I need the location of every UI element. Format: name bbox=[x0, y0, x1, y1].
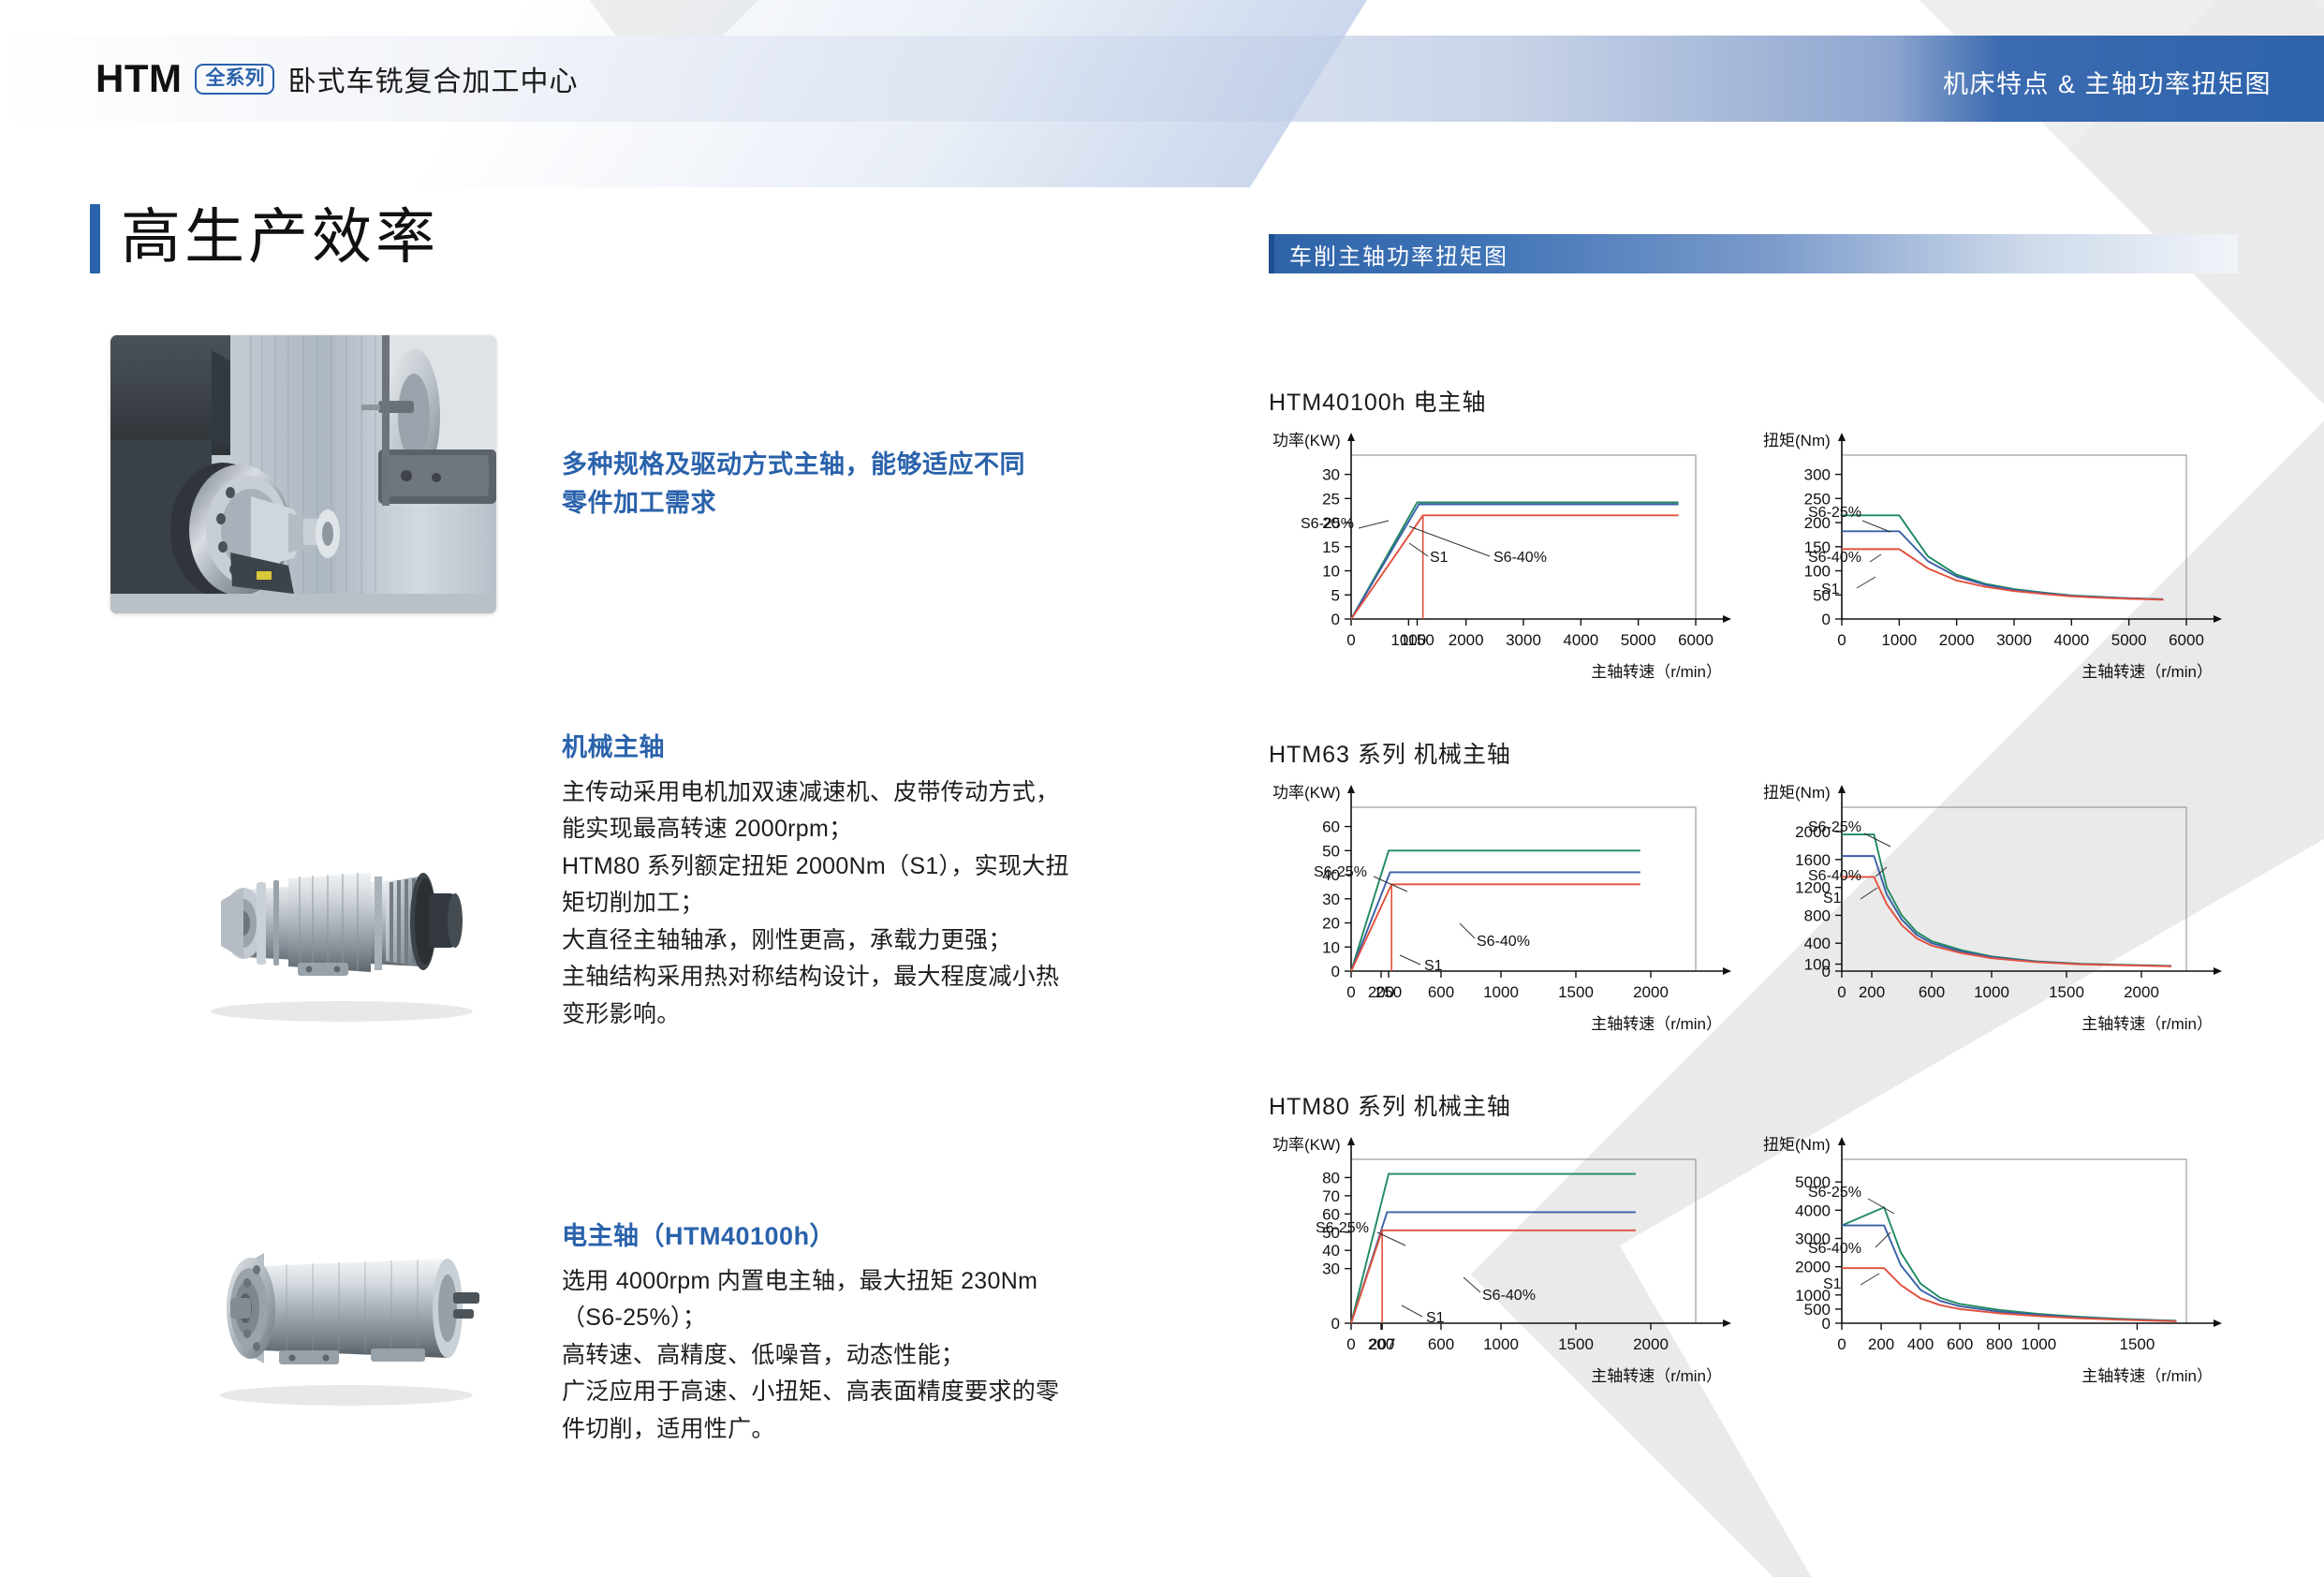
svg-text:4000: 4000 bbox=[2053, 631, 2089, 649]
body-line: 变形影响。 bbox=[562, 996, 1180, 1034]
charts-column: 车削主轴功率扭矩图 HTM40100h 电主轴 0510152025300100… bbox=[1269, 234, 2238, 1399]
svg-text:2000: 2000 bbox=[2124, 983, 2159, 1001]
brand-name: HTM bbox=[96, 56, 182, 101]
chart-group-title: HTM63 系列 机械主轴 bbox=[1269, 736, 2238, 770]
svg-text:1500: 1500 bbox=[2120, 1335, 2155, 1353]
svg-text:5000: 5000 bbox=[2111, 631, 2147, 649]
svg-text:S6-40%: S6-40% bbox=[1493, 550, 1547, 566]
feature-heading-mechanical: 机械主轴 bbox=[562, 729, 1180, 767]
svg-text:1000: 1000 bbox=[1974, 983, 2009, 1001]
machine-interior-photo bbox=[110, 335, 496, 613]
svg-text:S6-25%: S6-25% bbox=[1808, 1185, 1861, 1201]
body-line: 选用 4000rpm 内置电主轴，最大扭矩 230Nm bbox=[562, 1263, 1180, 1301]
svg-text:250: 250 bbox=[1375, 983, 1402, 1001]
svg-text:100: 100 bbox=[1804, 956, 1831, 974]
svg-text:S6-40%: S6-40% bbox=[1482, 1288, 1536, 1304]
svg-text:600: 600 bbox=[1919, 983, 1945, 1001]
svg-text:30: 30 bbox=[1322, 466, 1340, 484]
svg-text:3000: 3000 bbox=[1996, 631, 2032, 649]
body-line: 能实现最高转速 2000rpm； bbox=[562, 811, 1180, 848]
svg-text:1000: 1000 bbox=[1483, 1335, 1519, 1353]
svg-text:207: 207 bbox=[1369, 1335, 1395, 1353]
svg-text:10: 10 bbox=[1322, 938, 1340, 956]
svg-text:S6-25%: S6-25% bbox=[1314, 864, 1367, 880]
svg-text:0: 0 bbox=[1346, 1335, 1355, 1353]
header-section-title: 机床特点 & 主轴功率扭矩图 bbox=[1943, 64, 2272, 100]
title-accent-bar bbox=[90, 204, 100, 273]
feature-body-mechanical: 主传动采用电机加双速减速机、皮带传动方式， 能实现最高转速 2000rpm； H… bbox=[562, 774, 1180, 1034]
chart-group-title: HTM80 系列 机械主轴 bbox=[1269, 1088, 2238, 1122]
chart-htm40100h-power: 0510152025300100011502000300040005000600… bbox=[1269, 423, 1735, 695]
page-title-wrapper: 高生产效率 bbox=[90, 204, 439, 273]
body-line: 件切削，适用性广。 bbox=[562, 1411, 1180, 1449]
svg-text:S1: S1 bbox=[1426, 1310, 1445, 1326]
svg-text:300: 300 bbox=[1804, 466, 1831, 484]
svg-text:0: 0 bbox=[1331, 1315, 1340, 1333]
svg-text:60: 60 bbox=[1322, 818, 1340, 836]
svg-text:80: 80 bbox=[1322, 1169, 1340, 1186]
svg-text:30: 30 bbox=[1322, 891, 1340, 908]
svg-text:0: 0 bbox=[1822, 611, 1831, 628]
header-brand-title: HTM 全系列 卧式车铣复合加工中心 bbox=[96, 56, 578, 101]
svg-text:4000: 4000 bbox=[1795, 1201, 1831, 1219]
svg-text:扭矩(Nm): 扭矩(Nm) bbox=[1763, 432, 1831, 450]
svg-text:主轴转速（r/min）: 主轴转速（r/min） bbox=[2081, 663, 2213, 681]
power-chart-svg: 03040506070800200207600100015002000功率(KW… bbox=[1269, 1127, 1735, 1394]
svg-text:S6-40%: S6-40% bbox=[1477, 934, 1530, 950]
body-line: HTM80 系列额定扭矩 2000Nm（S1），实现大扭 bbox=[562, 848, 1180, 886]
svg-text:0: 0 bbox=[1331, 963, 1340, 980]
svg-text:6000: 6000 bbox=[2169, 631, 2204, 649]
chart-htm80-torque: 0500100020003000400050000200400600800100… bbox=[1759, 1127, 2226, 1399]
chart-htm80-power: 03040506070800200207600100015002000功率(KW… bbox=[1269, 1127, 1735, 1399]
feature-heading: 多种规格及驱动方式主轴，能够适应不同 零件加工需求 bbox=[562, 446, 1161, 522]
svg-text:600: 600 bbox=[1428, 983, 1454, 1001]
svg-text:扭矩(Nm): 扭矩(Nm) bbox=[1763, 784, 1831, 802]
power-chart-svg: 0510152025300100011502000300040005000600… bbox=[1269, 423, 1735, 690]
svg-text:S6-25%: S6-25% bbox=[1301, 516, 1354, 532]
svg-text:1000: 1000 bbox=[1881, 631, 1917, 649]
feature-heading-line-1: 多种规格及驱动方式主轴，能够适应不同 bbox=[562, 446, 1161, 484]
body-line: 矩切削加工； bbox=[562, 885, 1180, 922]
svg-text:200: 200 bbox=[1859, 983, 1885, 1001]
chart-row: 03040506070800200207600100015002000功率(KW… bbox=[1269, 1127, 2238, 1399]
svg-text:2000: 2000 bbox=[1939, 631, 1975, 649]
svg-text:10: 10 bbox=[1322, 563, 1340, 581]
svg-text:400: 400 bbox=[1907, 1335, 1934, 1353]
svg-text:0: 0 bbox=[1331, 611, 1340, 628]
electric-spindle-illustration bbox=[197, 1217, 496, 1409]
body-line: 广泛应用于高速、小扭矩、高表面精度要求的零 bbox=[562, 1374, 1180, 1411]
svg-text:主轴转速（r/min）: 主轴转速（r/min） bbox=[1591, 663, 1722, 681]
svg-text:1000: 1000 bbox=[2021, 1335, 2056, 1353]
svg-text:1000: 1000 bbox=[1483, 983, 1519, 1001]
svg-text:功率(KW): 功率(KW) bbox=[1272, 432, 1341, 450]
svg-text:200: 200 bbox=[1868, 1335, 1894, 1353]
svg-text:5: 5 bbox=[1331, 586, 1340, 604]
svg-text:15: 15 bbox=[1322, 538, 1340, 556]
svg-text:2000: 2000 bbox=[1633, 1335, 1669, 1353]
svg-text:1150: 1150 bbox=[1400, 631, 1434, 649]
chart-htm40100h-torque: 0501001502002503000100020003000400050006… bbox=[1759, 423, 2226, 695]
svg-text:70: 70 bbox=[1322, 1187, 1340, 1205]
svg-text:20: 20 bbox=[1322, 915, 1340, 933]
body-line: 大直径主轴轴承，刚性更高，承载力更强； bbox=[562, 922, 1180, 960]
chart-group-title: HTM40100h 电主轴 bbox=[1269, 384, 2238, 418]
body-line: （S6-25%）； bbox=[562, 1300, 1180, 1337]
svg-text:功率(KW): 功率(KW) bbox=[1272, 784, 1341, 802]
svg-text:3000: 3000 bbox=[1506, 631, 1541, 649]
chart-row: 0510152025300100011502000300040005000600… bbox=[1269, 423, 2238, 695]
power-chart-svg: 01020304050600200250600100015002000功率(KW… bbox=[1269, 775, 1735, 1042]
svg-text:600: 600 bbox=[1428, 1335, 1454, 1353]
svg-text:2000: 2000 bbox=[1633, 983, 1669, 1001]
chart-htm63-torque: 0100400800120016002000020060010001500200… bbox=[1759, 775, 2226, 1047]
svg-text:主轴转速（r/min）: 主轴转速（r/min） bbox=[2081, 1015, 2213, 1033]
torque-chart-svg: 0501001502002503000100020003000400050006… bbox=[1759, 423, 2226, 690]
svg-text:40: 40 bbox=[1322, 1242, 1340, 1260]
svg-text:功率(KW): 功率(KW) bbox=[1272, 1136, 1341, 1154]
torque-chart-svg: 0100400800120016002000020060010001500200… bbox=[1759, 775, 2226, 1042]
svg-text:1500: 1500 bbox=[2049, 983, 2084, 1001]
svg-text:S6-40%: S6-40% bbox=[1808, 550, 1861, 566]
svg-text:800: 800 bbox=[1986, 1335, 2012, 1353]
svg-text:0: 0 bbox=[1837, 1335, 1846, 1353]
svg-text:S1: S1 bbox=[1430, 550, 1449, 566]
svg-text:S1: S1 bbox=[1823, 891, 1842, 906]
body-line: 主轴结构采用热对称结构设计，最大程度减小热 bbox=[562, 959, 1180, 996]
feature-block-spindle-types: 多种规格及驱动方式主轴，能够适应不同 零件加工需求 bbox=[562, 446, 1161, 522]
svg-text:1500: 1500 bbox=[1558, 1335, 1594, 1353]
feature-heading-line-2: 零件加工需求 bbox=[562, 484, 1161, 523]
brand-subtitle: 卧式车铣复合加工中心 bbox=[287, 58, 578, 99]
section-band-power-torque: 车削主轴功率扭矩图 bbox=[1269, 234, 2238, 273]
svg-text:0: 0 bbox=[1837, 983, 1846, 1001]
feature-block-electric-spindle: 电主轴（HTM40100h） 选用 4000rpm 内置电主轴，最大扭矩 230… bbox=[562, 1217, 1180, 1448]
svg-text:S6-40%: S6-40% bbox=[1808, 868, 1861, 884]
svg-text:0: 0 bbox=[1837, 631, 1846, 649]
feature-body-electric: 选用 4000rpm 内置电主轴，最大扭矩 230Nm （S6-25%）； 高转… bbox=[562, 1263, 1180, 1449]
chart-group-htm80: HTM80 系列 机械主轴 03040506070800200207600100… bbox=[1269, 1088, 2238, 1399]
svg-text:0: 0 bbox=[1346, 631, 1355, 649]
svg-text:800: 800 bbox=[1804, 906, 1831, 924]
mechanical-spindle-illustration bbox=[187, 824, 496, 1025]
body-line: 高转速、高精度、低噪音，动态性能； bbox=[562, 1337, 1180, 1375]
machine-interior-illustration bbox=[110, 335, 496, 613]
svg-text:5000: 5000 bbox=[1621, 631, 1656, 649]
svg-text:6000: 6000 bbox=[1678, 631, 1714, 649]
electric-spindle-photo bbox=[197, 1217, 496, 1409]
chart-htm63-power: 01020304050600200250600100015002000功率(KW… bbox=[1269, 775, 1735, 1047]
svg-text:0: 0 bbox=[1346, 983, 1355, 1001]
page-header: HTM 全系列 卧式车铣复合加工中心 机床特点 & 主轴功率扭矩图 bbox=[0, 0, 2324, 122]
chart-group-htm63: HTM63 系列 机械主轴 01020304050600200250600100… bbox=[1269, 736, 2238, 1047]
svg-text:30: 30 bbox=[1322, 1260, 1340, 1278]
feature-heading-electric: 电主轴（HTM40100h） bbox=[562, 1217, 1180, 1256]
chart-group-htm40100h: HTM40100h 电主轴 05101520253001000115020003… bbox=[1269, 384, 2238, 695]
svg-text:50: 50 bbox=[1322, 842, 1340, 860]
svg-text:主轴转速（r/min）: 主轴转速（r/min） bbox=[1591, 1367, 1722, 1385]
svg-text:扭矩(Nm): 扭矩(Nm) bbox=[1763, 1136, 1831, 1154]
body-line: 主传动采用电机加双速减速机、皮带传动方式， bbox=[562, 774, 1180, 812]
svg-text:600: 600 bbox=[1947, 1335, 1973, 1353]
svg-text:主轴转速（r/min）: 主轴转速（r/min） bbox=[1591, 1015, 1722, 1033]
svg-text:25: 25 bbox=[1322, 490, 1340, 508]
svg-text:S1: S1 bbox=[1424, 958, 1443, 974]
svg-text:2000: 2000 bbox=[1449, 631, 1484, 649]
svg-text:1500: 1500 bbox=[1558, 983, 1594, 1001]
svg-text:S6-25%: S6-25% bbox=[1808, 505, 1861, 521]
svg-text:S6-40%: S6-40% bbox=[1808, 1241, 1861, 1257]
page-title: 高生产效率 bbox=[121, 204, 439, 273]
svg-text:400: 400 bbox=[1804, 935, 1831, 952]
mechanical-spindle-photo bbox=[187, 824, 496, 1025]
svg-text:4000: 4000 bbox=[1563, 631, 1598, 649]
brand-series-badge: 全系列 bbox=[195, 64, 274, 95]
feature-block-mechanical-spindle: 机械主轴 主传动采用电机加双速减速机、皮带传动方式， 能实现最高转速 2000r… bbox=[562, 729, 1180, 1033]
chart-row: 01020304050600200250600100015002000功率(KW… bbox=[1269, 775, 2238, 1047]
svg-text:S6-25%: S6-25% bbox=[1808, 819, 1861, 835]
section-band-label: 车削主轴功率扭矩图 bbox=[1274, 238, 1508, 271]
torque-chart-svg: 0500100020003000400050000200400600800100… bbox=[1759, 1127, 2226, 1394]
svg-text:S1: S1 bbox=[1823, 1276, 1842, 1292]
svg-text:S1: S1 bbox=[1821, 582, 1840, 597]
svg-text:S6-25%: S6-25% bbox=[1316, 1220, 1369, 1236]
brochure-page: HTM 全系列 卧式车铣复合加工中心 机床特点 & 主轴功率扭矩图 高生产效率 bbox=[0, 0, 2324, 1577]
svg-text:1600: 1600 bbox=[1795, 851, 1831, 869]
svg-text:2000: 2000 bbox=[1795, 1259, 1831, 1276]
svg-text:主轴转速（r/min）: 主轴转速（r/min） bbox=[2081, 1367, 2213, 1385]
